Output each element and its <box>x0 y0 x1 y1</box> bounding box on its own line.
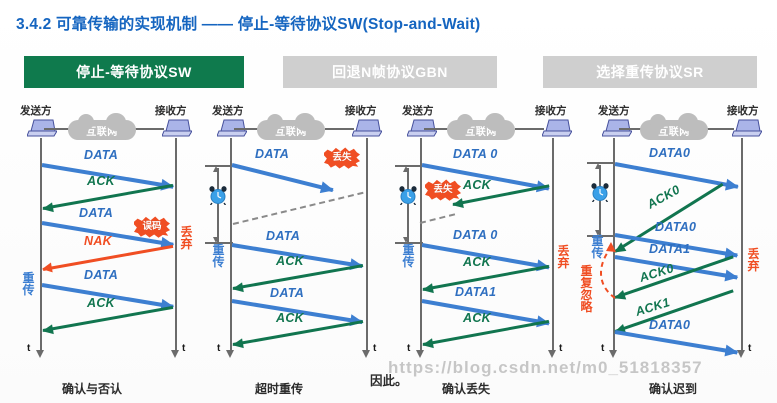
laptop-icon-receiver <box>352 118 382 138</box>
time-axis-label-receiver: t <box>182 343 185 354</box>
annotation-discard: 丢弃 <box>747 248 760 272</box>
annotation-discard: 丢弃 <box>180 226 193 250</box>
receiver-label: 接收方 <box>345 103 377 118</box>
internet-cloud-label: 互联网 <box>658 123 690 138</box>
panel-caption: 确认丢失 <box>442 380 490 397</box>
diagram-ack-nak: 发送方 接收方 互联网 t t DATA ACK DATA 误码 <box>0 100 197 403</box>
internet-cloud-label: 互联网 <box>275 123 307 138</box>
annotation-retransmit: 重传 <box>402 244 415 268</box>
dup-ignore-curve-arrow <box>589 240 623 302</box>
message-label-nak: NAK <box>84 234 112 248</box>
receiver-timeline <box>741 138 743 350</box>
message-label-ack: ACK <box>87 174 115 188</box>
footnote-yinci: 因此。 <box>370 370 408 389</box>
message-label-data0-retx: DATA 0 <box>453 228 498 242</box>
message-label-data: DATA <box>84 148 118 162</box>
message-label-ack: ACK <box>276 254 304 268</box>
time-axis-label-receiver: t <box>373 343 376 354</box>
time-axis-label-receiver: t <box>559 343 562 354</box>
laptop-icon-receiver <box>542 118 572 138</box>
internet-cloud-label: 互联网 <box>465 123 497 138</box>
time-axis-label-sender: t <box>407 343 410 354</box>
receiver-timeline <box>175 138 177 350</box>
diagram-ack-lost: 发送方 接收方 互联网 t t <box>387 100 577 403</box>
error-badge: 误码 <box>134 216 170 238</box>
message-label-data0-final: DATA0 <box>649 318 690 332</box>
message-label-ack-2: ACK <box>276 311 304 325</box>
message-label-data1: DATA1 <box>649 242 690 256</box>
time-axis-label-sender: t <box>27 343 30 354</box>
message-label-ack-2: ACK <box>87 296 115 310</box>
receiver-label: 接收方 <box>155 103 187 118</box>
lost-path-dashed <box>233 192 364 225</box>
sender-timeline <box>40 138 42 350</box>
internet-cloud: 互联网 <box>68 120 136 140</box>
page-title: 3.4.2 可靠传输的实现机制 —— 停止-等待协议SW(Stop-and-Wa… <box>16 12 480 34</box>
diagram-timeout-retransmit: 发送方 接收方 互联网 t t <box>197 100 387 403</box>
message-label-data0: DATA0 <box>649 146 690 160</box>
annotation-discard: 丢弃 <box>557 245 570 269</box>
message-arrow-nak <box>43 245 173 271</box>
slide-canvas: 3.4.2 可靠传输的实现机制 —— 停止-等待协议SW(Stop-and-Wa… <box>0 0 777 403</box>
message-label-ack-2: ACK <box>463 311 491 325</box>
sender-label: 发送方 <box>20 103 52 118</box>
message-label-data-retx: DATA <box>266 229 300 243</box>
message-label-data-2: DATA <box>270 286 304 300</box>
time-axis-label-receiver: t <box>748 343 751 354</box>
message-label-data-error: DATA <box>79 206 113 220</box>
message-arrow-data-lost <box>232 163 334 192</box>
lost-path-dashed <box>420 213 455 224</box>
message-label-data0: DATA 0 <box>453 147 498 161</box>
internet-cloud: 互联网 <box>257 120 325 140</box>
tab-selective-repeat-label: 选择重传协议SR <box>596 62 703 82</box>
internet-cloud: 互联网 <box>447 120 515 140</box>
panel-caption: 超时重传 <box>255 380 303 397</box>
message-label-data1: DATA1 <box>455 285 496 299</box>
message-label-ack-lost: ACK <box>463 178 491 192</box>
sender-label: 发送方 <box>402 103 434 118</box>
receiver-timeline <box>552 138 554 350</box>
protocol-tab-bar: 停止-等待协议SW 回退N帧协议GBN 选择重传协议SR <box>0 56 777 90</box>
diagram-ack-delayed: 发送方 接收方 互联网 t t <box>577 100 777 403</box>
tab-stop-and-wait[interactable]: 停止-等待协议SW <box>24 56 244 88</box>
laptop-icon-receiver <box>732 118 762 138</box>
panel-caption: 确认迟到 <box>649 380 697 397</box>
sender-label: 发送方 <box>598 103 630 118</box>
receiver-label: 接收方 <box>727 103 759 118</box>
sender-label: 发送方 <box>212 103 244 118</box>
annotation-retransmit: 重传 <box>212 244 225 268</box>
message-label-data0-retx: DATA0 <box>655 220 696 234</box>
internet-cloud-label: 互联网 <box>86 123 118 138</box>
message-label-ack: ACK <box>463 255 491 269</box>
timer-clock-icon <box>590 182 610 202</box>
message-label-data-lost: DATA <box>255 147 289 161</box>
lost-badge: 丢失 <box>425 179 461 201</box>
panel-caption: 确认与否认 <box>62 380 122 397</box>
tab-stop-and-wait-label: 停止-等待协议SW <box>76 62 192 82</box>
annotation-retransmit: 重传 <box>22 272 35 296</box>
receiver-label: 接收方 <box>535 103 567 118</box>
tab-selective-repeat[interactable]: 选择重传协议SR <box>543 56 757 88</box>
message-label-ack0-delayed: ACK0 <box>645 182 683 211</box>
time-axis-label-sender: t <box>217 343 220 354</box>
laptop-icon-receiver <box>162 118 192 138</box>
tab-go-back-n[interactable]: 回退N帧协议GBN <box>283 56 497 88</box>
internet-cloud: 互联网 <box>640 120 708 140</box>
tab-go-back-n-label: 回退N帧协议GBN <box>332 62 448 82</box>
timer-clock-icon <box>398 185 418 205</box>
message-arrow-data0-final <box>615 330 738 354</box>
message-label-data-retx: DATA <box>84 268 118 282</box>
lost-badge: 丢失 <box>324 147 360 169</box>
timer-clock-icon <box>208 185 228 205</box>
receiver-timeline <box>366 138 368 350</box>
time-axis-label-sender: t <box>601 343 604 354</box>
